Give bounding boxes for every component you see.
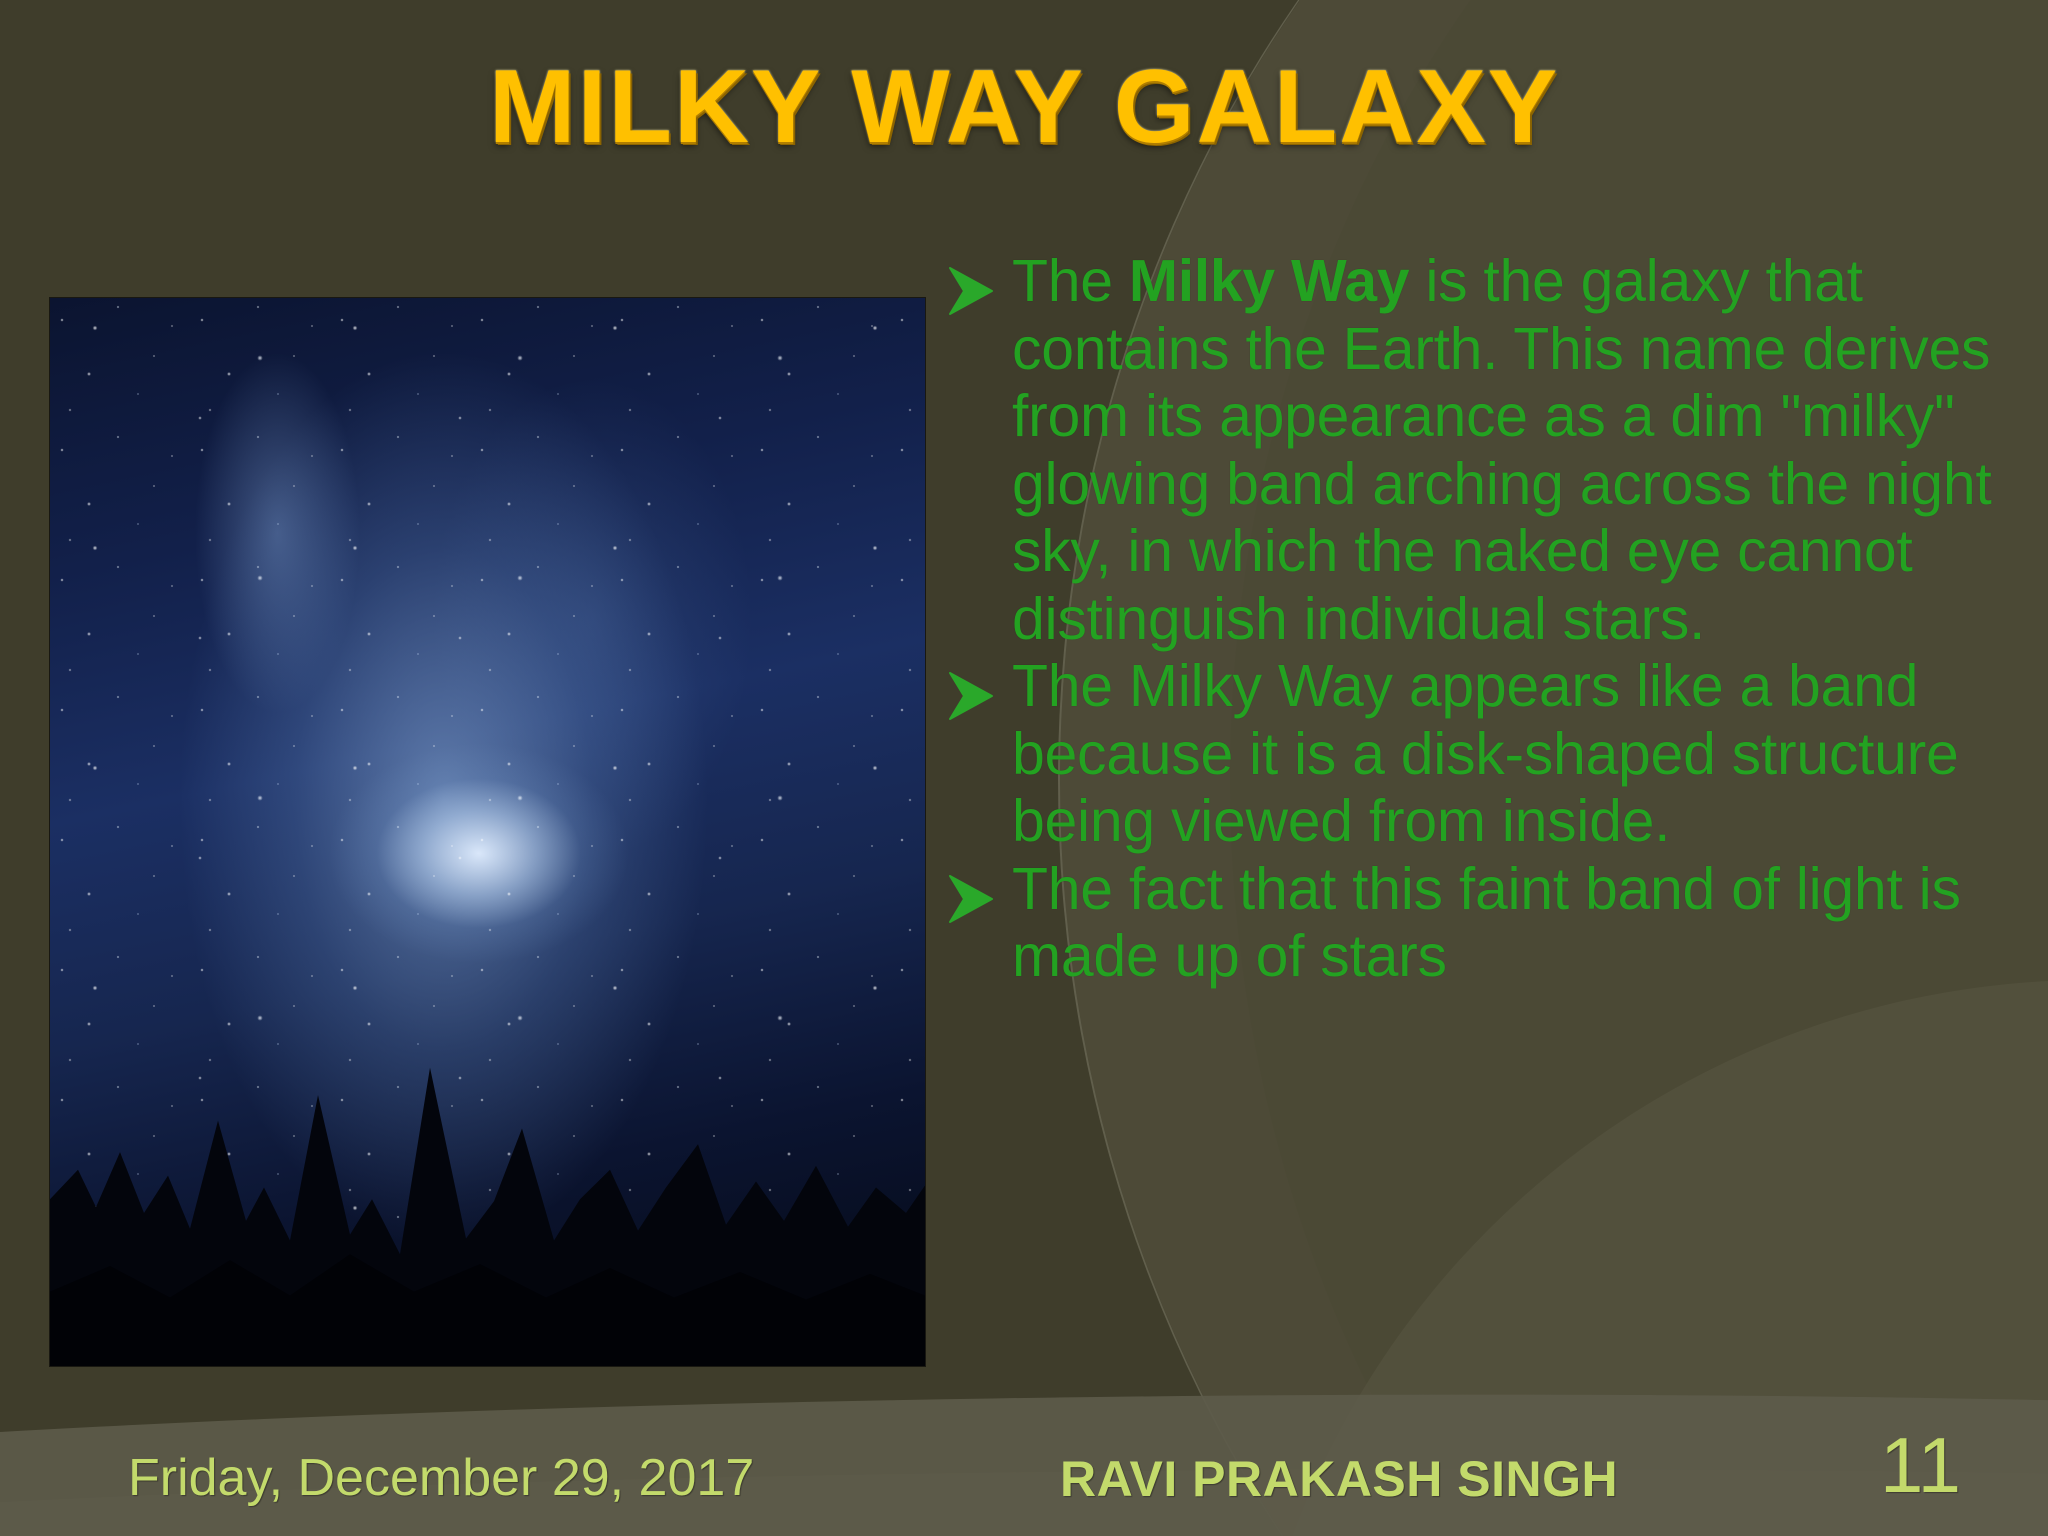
arrow-bullet-icon [940,653,1012,725]
footer-date: Friday, December 29, 2017 [128,1448,754,1508]
bullet-text-2: The Milky Way appears like a band becaus… [1012,653,2030,856]
milky-way-photo [50,298,925,1366]
footer-page-number: 11 [1880,1420,1961,1511]
bullet-item-2: The Milky Way appears like a band becaus… [940,653,2030,856]
bullet-item-1: The Milky Way is the galaxy that contain… [940,248,2030,653]
arrow-bullet-icon [940,248,1012,320]
bullet-text-3: The fact that this faint band of light i… [1012,856,2030,991]
slide-canvas: MILKY WAY GALAXY The Milky Way is the ga… [0,0,2048,1536]
content-bullet-list: The Milky Way is the galaxy that contain… [940,248,2030,991]
slide-title: MILKY WAY GALAXY [0,48,2048,167]
footer-author-name: RAVI PRAKASH SINGH [1060,1450,1618,1508]
bullet-item-3: The fact that this faint band of light i… [940,856,2030,991]
arrow-bullet-icon [940,856,1012,928]
bullet-text-1: The Milky Way is the galaxy that contain… [1012,248,2030,653]
tree-silhouettes-icon [50,875,925,1366]
